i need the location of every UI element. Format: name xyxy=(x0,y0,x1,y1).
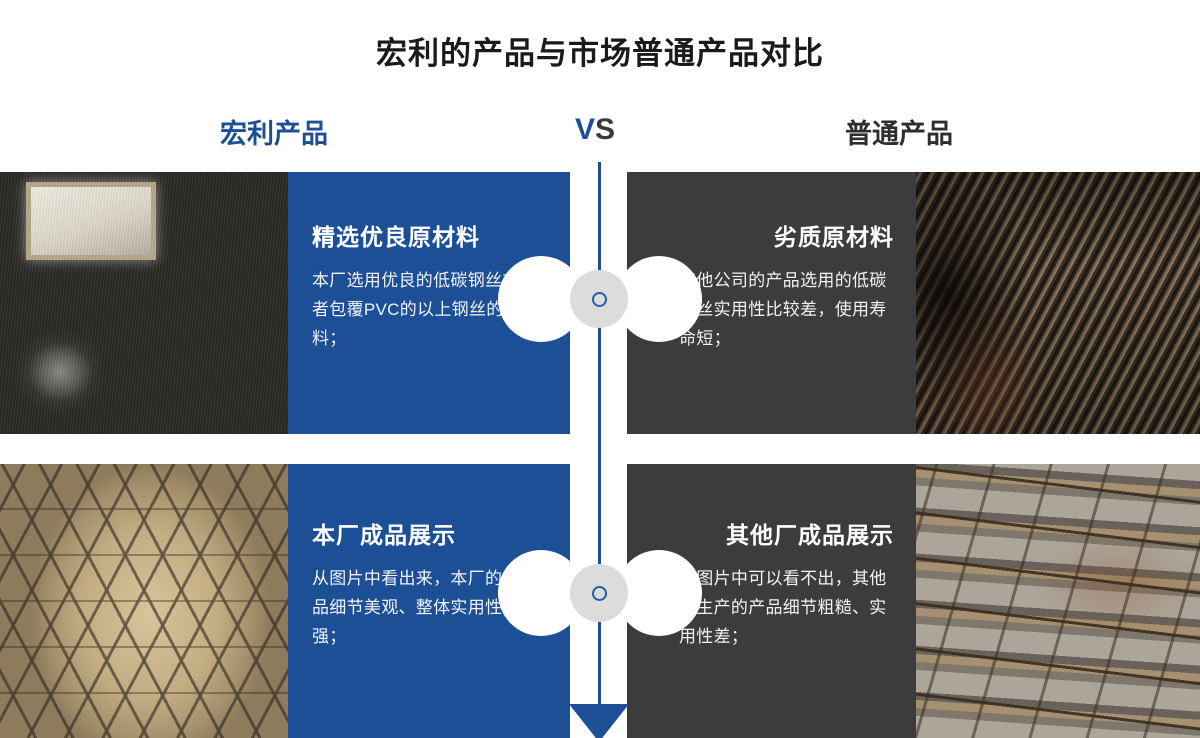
row2-right-title: 其他厂成品展示 xyxy=(661,522,894,550)
caption-our-product: 宏利产品 xyxy=(220,112,328,151)
row1-right-text: 其他公司的产品选用的低碳钢丝实用性比较差，使用寿命短； xyxy=(679,266,894,354)
photo-steel-wire-coils xyxy=(0,172,288,434)
photo-rusty-gabion-wall xyxy=(916,464,1200,738)
row2-left-text: 从图片中看出来，本厂的产品细节美观、整体实用性强； xyxy=(312,564,527,652)
node-1-ring-icon xyxy=(592,292,607,307)
row1-left-photo xyxy=(0,172,288,434)
row2-right-text: 从图片中可以看不出，其他厂生产的产品细节粗糙、实用性差； xyxy=(679,564,894,652)
page-title: 宏利的产品与市场普通产品对比 xyxy=(0,28,1200,73)
node1-right-notch xyxy=(616,256,702,342)
photo-dark-rusty-wire xyxy=(916,172,1200,434)
row2-left-title: 本厂成品展示 xyxy=(312,522,536,550)
row1-left-title: 精选优良原材料 xyxy=(312,224,536,252)
comparison-infographic: 宏利的产品与市场普通产品对比 宏利产品 VS 普通产品 精选优良原材料 本厂选用… xyxy=(0,0,1200,738)
vs-letter-s: S xyxy=(595,113,615,146)
timeline-node-1-icon xyxy=(570,270,628,328)
row2-right-photo xyxy=(916,464,1200,738)
caption-vs: VS xyxy=(575,113,615,147)
header: 宏利的产品与市场普通产品对比 xyxy=(0,0,1200,100)
triangle-down-arrow-icon xyxy=(569,704,629,738)
row1-right-title: 劣质原材料 xyxy=(661,224,894,252)
row1-right-photo xyxy=(916,172,1200,434)
node2-right-notch xyxy=(616,550,702,636)
node-2-ring-icon xyxy=(592,586,607,601)
row1-left-text: 本厂选用优良的低碳钢丝或者包覆PVC的以上钢丝的原料； xyxy=(312,266,527,354)
center-spine-line xyxy=(598,162,601,718)
vs-letter-v: V xyxy=(575,113,595,146)
row2-left-photo xyxy=(0,464,288,738)
column-captions: 宏利产品 VS 普通产品 xyxy=(0,112,1200,164)
caption-ordinary-product: 普通产品 xyxy=(845,112,953,151)
page-title-text: 宏利的产品与市场普通产品对比 xyxy=(354,28,846,73)
photo-gabion-mesh-stone xyxy=(0,464,288,738)
timeline-node-2-icon xyxy=(570,564,628,622)
